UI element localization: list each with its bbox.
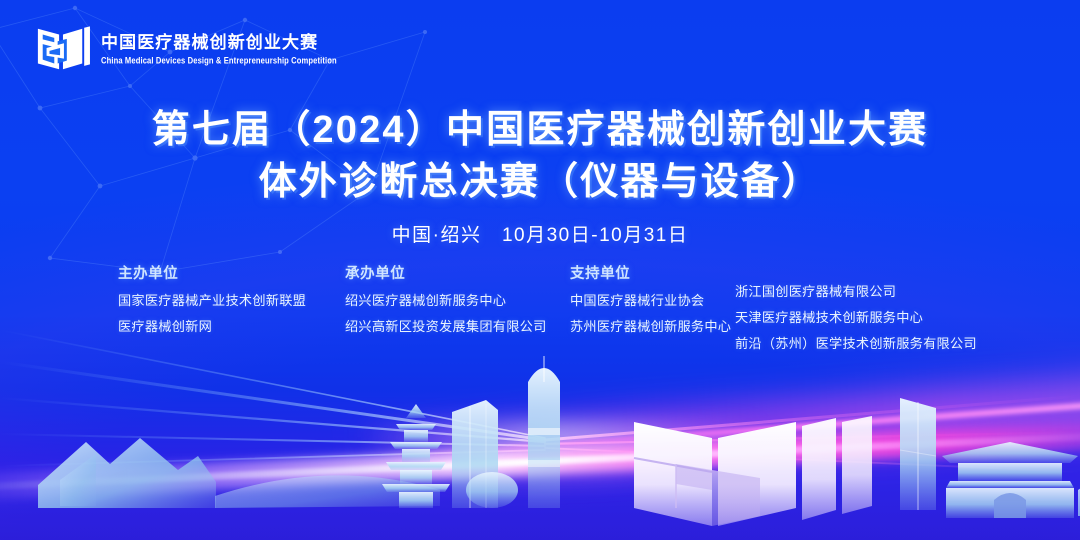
organizer-item: 绍兴高新区投资发展集团有限公司 <box>345 318 547 335</box>
event-location-date: 中国·绍兴 10月30日-10月31日 <box>0 220 1080 247</box>
organizer-column-supporter-extra: 浙江国创医疗器械有限公司 天津医疗器械技术创新服务中心 前沿（苏州）医学技术创新… <box>735 283 977 361</box>
organizer-item: 天津医疗器械技术创新服务中心 <box>735 309 977 326</box>
organizer-heading: 承办单位 <box>345 262 547 283</box>
organizer-item: 浙江国创医疗器械有限公司 <box>735 283 977 300</box>
poster-banner: 中国医疗器械创新创业大赛 China Medical Devices Desig… <box>0 0 1080 540</box>
organizer-column-host: 主办单位 国家医疗器械产业技术创新联盟 医疗器械创新网 <box>118 262 306 344</box>
organizer-item: 绍兴医疗器械创新服务中心 <box>345 292 547 309</box>
organizer-heading: 支持单位 <box>570 262 731 283</box>
organizer-item: 医疗器械创新网 <box>118 318 306 335</box>
organizer-heading: 主办单位 <box>118 262 306 283</box>
logo-title-en: China Medical Devices Design & Entrepren… <box>101 55 337 66</box>
organizer-column-supporter: 支持单位 中国医疗器械行业协会 苏州医疗器械创新服务中心 <box>570 262 731 344</box>
logo-monument-icon <box>634 416 872 526</box>
organizers-block: 主办单位 国家医疗器械产业技术创新联盟 医疗器械创新网 承办单位 绍兴医疗器械创… <box>0 262 1080 372</box>
open-book-door-logo-icon <box>34 22 90 76</box>
title-block: 第七届（2024）中国医疗器械创新创业大赛 体外诊断总决赛（仪器与设备） 中国·… <box>0 106 1080 247</box>
organizer-item: 苏州医疗器械创新服务中心 <box>570 318 731 335</box>
organizer-item: 国家医疗器械产业技术创新联盟 <box>118 292 306 309</box>
organizer-column-undertaker: 承办单位 绍兴医疗器械创新服务中心 绍兴高新区投资发展集团有限公司 <box>345 262 547 344</box>
main-title-line1: 第七届（2024）中国医疗器械创新创业大赛 <box>0 106 1080 154</box>
organizer-item: 前沿（苏州）医学技术创新服务有限公司 <box>735 335 977 352</box>
organizer-item: 中国医疗器械行业协会 <box>570 292 731 309</box>
competition-logo: 中国医疗器械创新创业大赛 China Medical Devices Desig… <box>34 22 337 76</box>
logo-title-cn: 中国医疗器械创新创业大赛 <box>101 33 337 52</box>
main-title-line2: 体外诊断总决赛（仪器与设备） <box>0 158 1080 206</box>
